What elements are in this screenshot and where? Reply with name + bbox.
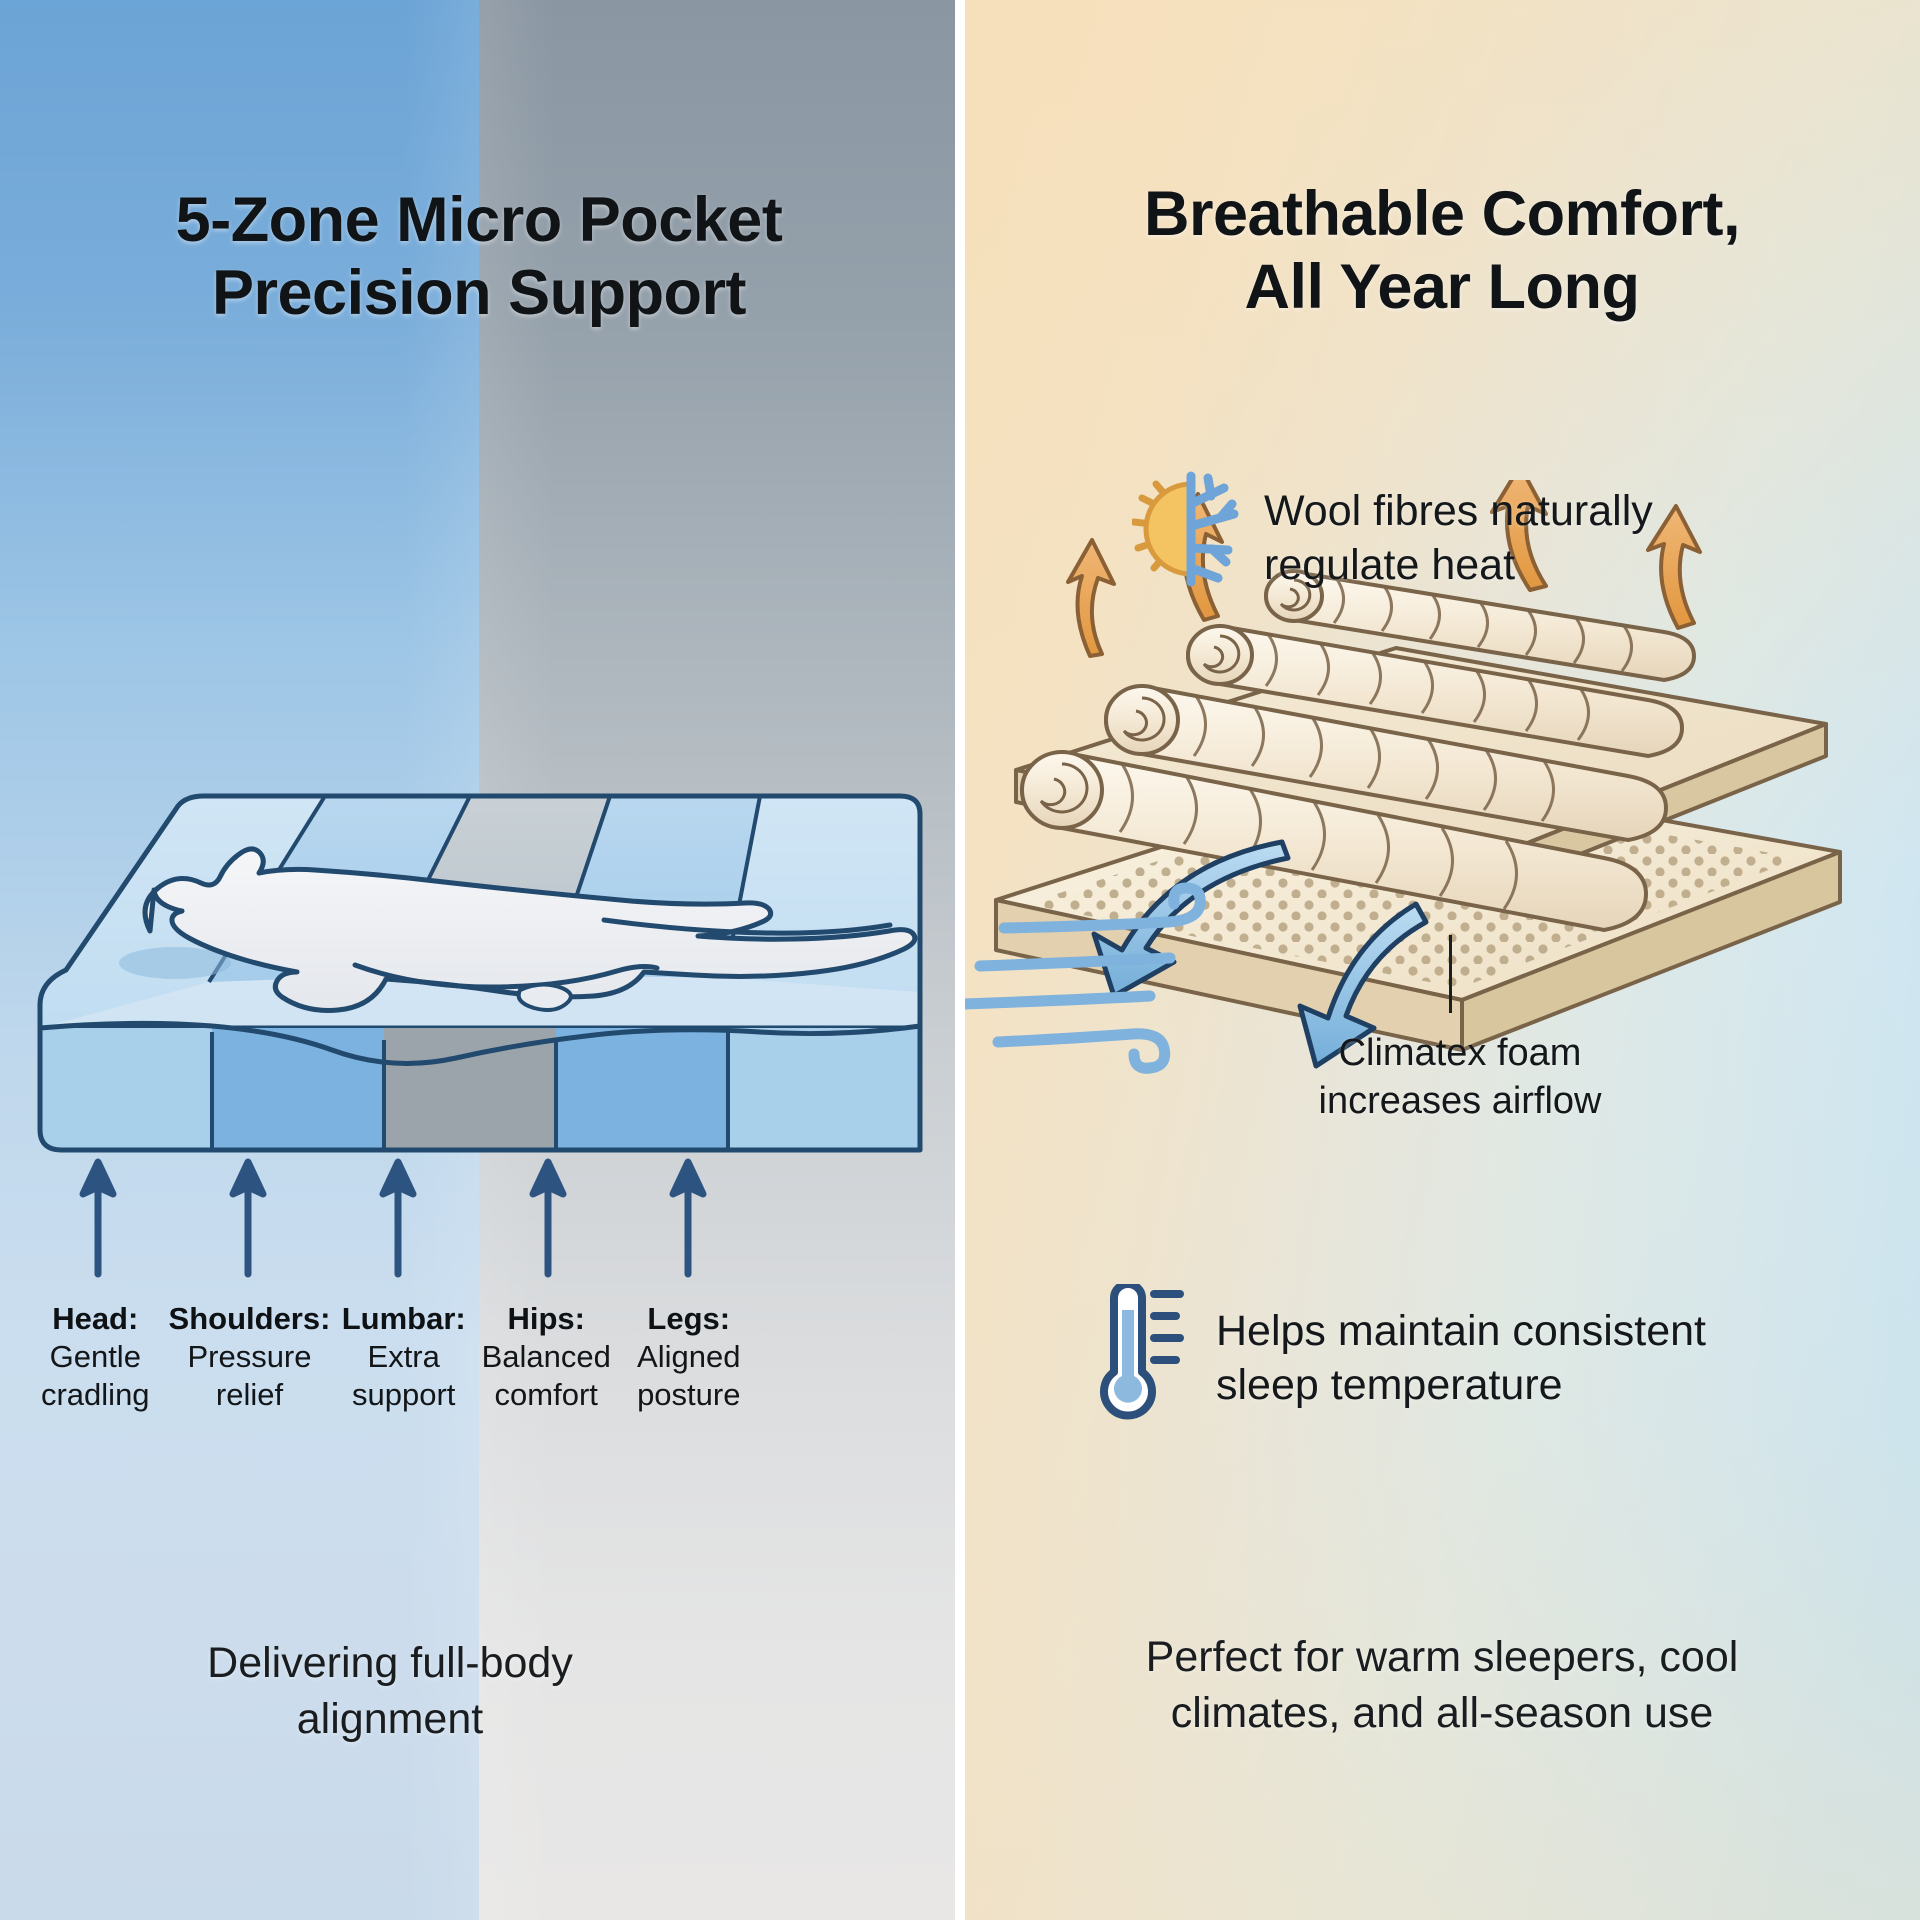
feature-thermal-text: Wool fibres naturallyregulate heat [1264, 480, 1653, 592]
mattress-front-zones [40, 1023, 920, 1150]
zone-label-lumbar: Lumbar: Extrasupport [332, 1300, 475, 1450]
callout-leader-line [1449, 935, 1452, 1013]
infographic-canvas: 5-Zone Micro PocketPrecision Support Hea… [0, 0, 1920, 1920]
sun-snowflake-icon [1132, 470, 1250, 588]
zone-description: Extrasupport [334, 1338, 473, 1414]
thermometer-icon [1084, 1284, 1194, 1424]
zone-name: Hips: [477, 1300, 616, 1338]
up-arrow-icon [233, 1162, 263, 1274]
zone-label-hips: Hips: Balancedcomfort [475, 1300, 618, 1450]
up-arrow-icon [673, 1162, 703, 1274]
zone-description: Gentlecradling [26, 1338, 165, 1414]
zone-name: Legs: [620, 1300, 759, 1338]
zone-name: Shoulders: [169, 1300, 331, 1338]
right-panel: Breathable Comfort,All Year Long [964, 0, 1920, 1920]
zone-description: Alignedposture [620, 1338, 759, 1414]
zone-label-row: Head: Gentlecradling Shoulders: Pressure… [24, 1300, 760, 1450]
up-arrow-icon [83, 1162, 113, 1274]
heat-rising-arrow-icon [1068, 540, 1114, 656]
left-panel: 5-Zone Micro PocketPrecision Support Hea… [0, 0, 958, 1920]
feature-thermal-regulation: Wool fibres naturallyregulate heat [1132, 480, 1912, 592]
zone-label-shoulders: Shoulders: Pressurerelief [167, 1300, 333, 1450]
feature-temperature-consistency: Helps maintain consistentsleep temperatu… [1084, 1300, 1914, 1424]
feature-temperature-text: Helps maintain consistentsleep temperatu… [1216, 1300, 1706, 1412]
zoned-mattress-with-sleeper-illustration [0, 760, 958, 1200]
up-arrow-icon [383, 1162, 413, 1274]
zone-name: Lumbar: [334, 1300, 473, 1338]
panel-divider [955, 0, 965, 1920]
zone-label-legs: Legs: Alignedposture [618, 1300, 761, 1450]
up-arrow-icon [533, 1162, 563, 1274]
left-panel-caption: Delivering full-bodyalignment [60, 1636, 720, 1748]
zone-indicator-arrows [0, 1150, 958, 1290]
zone-description: Balancedcomfort [477, 1338, 616, 1414]
climatex-foam-callout: Climatex foamincreases airflow [1300, 1030, 1620, 1126]
zone-label-head: Head: Gentlecradling [24, 1300, 167, 1450]
zone-description: Pressurerelief [169, 1338, 331, 1414]
right-panel-caption: Perfect for warm sleepers, coolclimates,… [984, 1630, 1900, 1742]
left-panel-title: 5-Zone Micro PocketPrecision Support [0, 184, 958, 330]
right-panel-title: Breathable Comfort,All Year Long [964, 178, 1920, 324]
zone-name: Head: [26, 1300, 165, 1338]
